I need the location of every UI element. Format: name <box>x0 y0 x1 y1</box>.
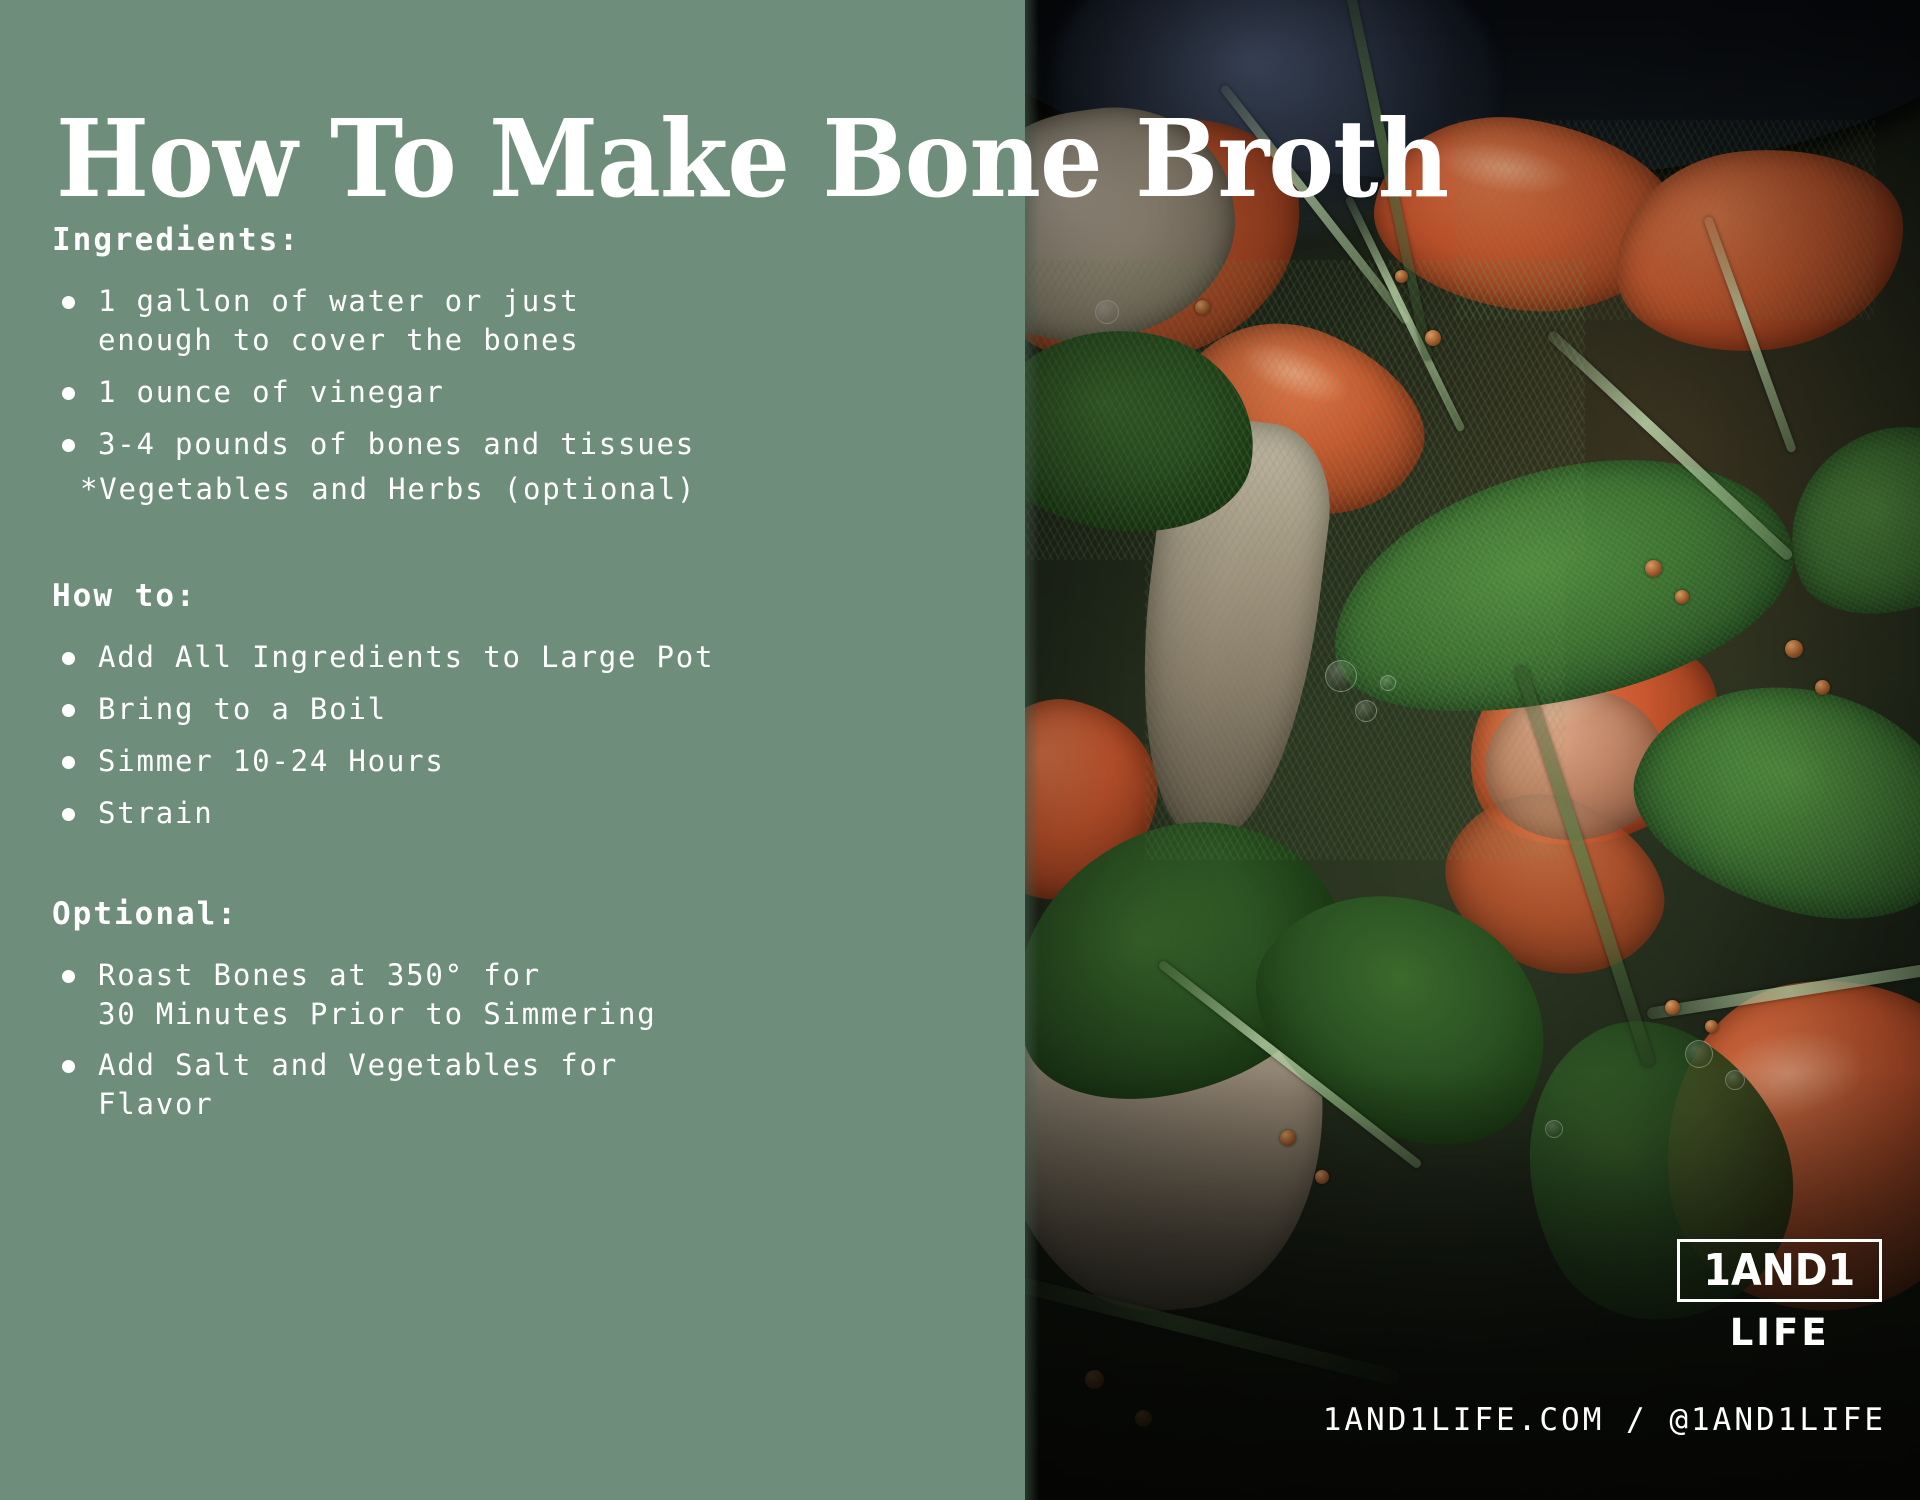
section-how-to: How to: Add All Ingredients to Large Pot… <box>52 578 1012 832</box>
how-to-list: Add All Ingredients to Large Pot Bring t… <box>52 638 1012 832</box>
list-item-label: 1 gallon of water or just enough to cove… <box>98 284 580 357</box>
list-item-label: Add All Ingredients to Large Pot <box>98 640 714 674</box>
section-heading: Ingredients: <box>52 222 1012 258</box>
list-item: Simmer 10-24 Hours <box>52 742 1012 781</box>
list-item-label: Strain <box>98 796 214 830</box>
section-ingredients: Ingredients: 1 gallon of water or just e… <box>52 222 1012 509</box>
bullet-icon <box>62 756 75 769</box>
bullet-icon <box>62 387 75 400</box>
section-spacer <box>52 846 1012 896</box>
page-title: How To Make Bone Broth <box>56 106 1740 213</box>
bullet-icon <box>62 704 75 717</box>
list-item: 1 ounce of vinegar <box>52 373 1012 412</box>
list-item-label: 3-4 pounds of bones and tissues <box>98 427 695 461</box>
section-spacer <box>52 522 1012 578</box>
list-item-note: *Vegetables and Herbs (optional) <box>52 470 1012 509</box>
ingredients-list: 1 gallon of water or just enough to cove… <box>52 282 1012 509</box>
list-item: 3-4 pounds of bones and tissues <box>52 425 1012 464</box>
bullet-icon <box>62 1060 75 1073</box>
list-item: Roast Bones at 350° for 30 Minutes Prior… <box>52 956 1012 1034</box>
bullet-icon <box>62 808 75 821</box>
brand-logo: 1AND1 LIFE <box>1677 1239 1882 1354</box>
list-item: Strain <box>52 794 1012 833</box>
bullet-icon <box>62 439 75 452</box>
recipe-poster: How To Make Bone Broth Ingredients: 1 ga… <box>0 0 1920 1500</box>
bullet-icon <box>62 652 75 665</box>
list-item: Add All Ingredients to Large Pot <box>52 638 1012 677</box>
optional-list: Roast Bones at 350° for 30 Minutes Prior… <box>52 956 1012 1124</box>
list-item-label: 1 ounce of vinegar <box>98 375 445 409</box>
list-item-label: *Vegetables and Herbs (optional) <box>80 472 696 506</box>
list-item-label: Roast Bones at 350° for 30 Minutes Prior… <box>98 958 657 1031</box>
list-item-label: Bring to a Boil <box>98 692 387 726</box>
list-item-label: Add Salt and Vegetables for Flavor <box>98 1048 618 1121</box>
recipe-content: Ingredients: 1 gallon of water or just e… <box>52 222 1012 1137</box>
section-heading: Optional: <box>52 896 1012 932</box>
bullet-icon <box>62 970 75 983</box>
section-heading: How to: <box>52 578 1012 614</box>
logo-subtitle: LIFE <box>1677 1311 1882 1354</box>
list-item: Add Salt and Vegetables for Flavor <box>52 1046 1012 1124</box>
list-item: 1 gallon of water or just enough to cove… <box>52 282 1012 360</box>
list-item-label: Simmer 10-24 Hours <box>98 744 445 778</box>
logo-box: 1AND1 <box>1677 1239 1882 1302</box>
logo-wordmark: 1AND1 <box>1704 1249 1856 1293</box>
bullet-icon <box>62 296 75 309</box>
footer-url: 1AND1LIFE.COM / @1AND1LIFE <box>1323 1402 1886 1438</box>
photo-left-edge <box>1025 0 1039 1500</box>
list-item: Bring to a Boil <box>52 690 1012 729</box>
section-optional: Optional: Roast Bones at 350° for 30 Min… <box>52 896 1012 1124</box>
